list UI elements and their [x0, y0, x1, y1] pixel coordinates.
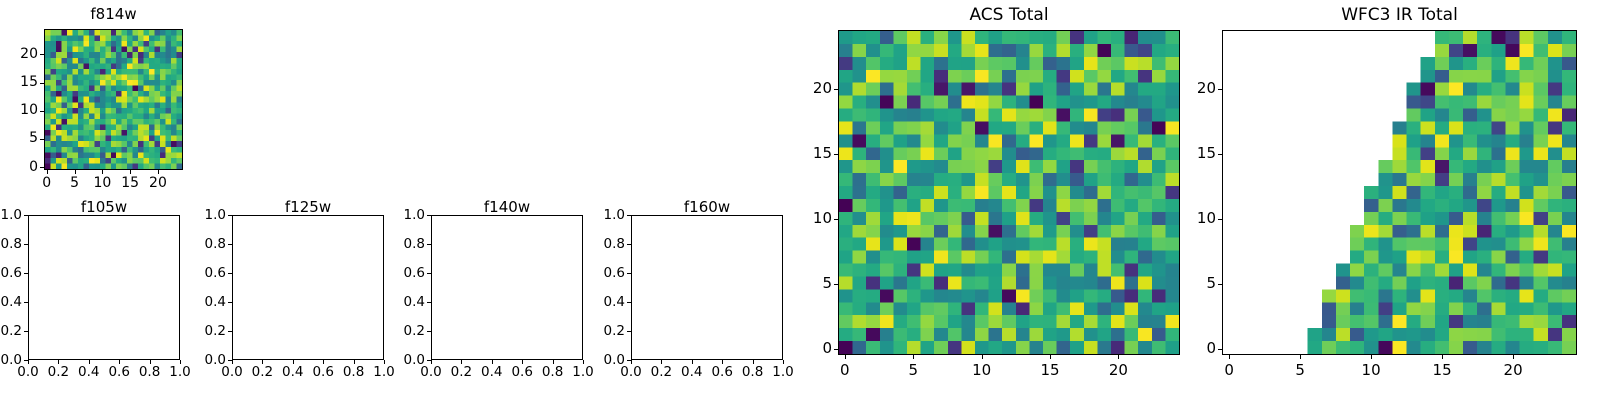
- xtick-label: 20: [1078, 361, 1158, 379]
- xtick-mark: [130, 170, 131, 174]
- ytick-mark: [40, 167, 44, 168]
- ytick-mark: [40, 111, 44, 112]
- xtick-mark: [982, 355, 983, 359]
- ytick-label: 0.2: [0, 323, 22, 339]
- ytick-label: 0: [742, 339, 832, 357]
- ytick-label: 0.4: [535, 294, 625, 310]
- ytick-mark: [40, 139, 44, 140]
- ytick-mark: [834, 219, 838, 220]
- xtick-label: 10: [1331, 361, 1411, 379]
- xtick-label: 20: [1473, 361, 1553, 379]
- ytick-label: 20: [742, 79, 832, 97]
- xtick-mark: [47, 170, 48, 174]
- ytick-label: 20: [1126, 79, 1216, 97]
- ytick-label: 0.6: [535, 265, 625, 281]
- xtick-mark: [1118, 355, 1119, 359]
- ytick-label: 0: [0, 159, 38, 175]
- xtick-mark: [1513, 355, 1514, 359]
- xtick-label: 5: [1260, 361, 1340, 379]
- ytick-mark: [427, 302, 431, 303]
- ytick-mark: [24, 360, 28, 361]
- ytick-label: 1.0: [335, 207, 425, 223]
- ytick-mark: [1218, 349, 1222, 350]
- xtick-mark: [1050, 355, 1051, 359]
- ytick-mark: [627, 331, 631, 332]
- ytick-label: 0.6: [335, 265, 425, 281]
- ytick-mark: [834, 89, 838, 90]
- ytick-mark: [40, 54, 44, 55]
- ytick-mark: [228, 215, 232, 216]
- ytick-label: 0.4: [136, 294, 226, 310]
- ytick-label: 15: [0, 74, 38, 90]
- ytick-label: 0.2: [535, 323, 625, 339]
- ytick-label: 0.0: [535, 352, 625, 368]
- ytick-mark: [627, 215, 631, 216]
- ytick-label: 0.8: [136, 236, 226, 252]
- ytick-label: 10: [1126, 209, 1216, 227]
- ytick-mark: [627, 360, 631, 361]
- ytick-label: 0.6: [0, 265, 22, 281]
- ytick-mark: [228, 302, 232, 303]
- ytick-mark: [24, 215, 28, 216]
- ytick-label: 1.0: [136, 207, 226, 223]
- panel-title-wfc3-ir-total: WFC3 IR Total: [1162, 5, 1600, 25]
- xtick-label: 0: [1189, 361, 1269, 379]
- ytick-mark: [834, 349, 838, 350]
- ytick-label: 0.4: [0, 294, 22, 310]
- ytick-label: 15: [742, 144, 832, 162]
- ytick-label: 5: [0, 130, 38, 146]
- ytick-mark: [1218, 219, 1222, 220]
- ytick-mark: [40, 83, 44, 84]
- ytick-mark: [627, 244, 631, 245]
- xtick-mark: [1371, 355, 1372, 359]
- ytick-mark: [627, 273, 631, 274]
- plot-area-wfc3-ir-total: [1222, 30, 1577, 355]
- ytick-label: 0.2: [335, 323, 425, 339]
- ytick-label: 0.4: [335, 294, 425, 310]
- ytick-label: 20: [0, 46, 38, 62]
- ytick-label: 0.8: [0, 236, 22, 252]
- ytick-label: 15: [1126, 144, 1216, 162]
- ytick-label: 0.2: [136, 323, 226, 339]
- xtick-mark: [158, 170, 159, 174]
- xtick-mark: [1300, 355, 1301, 359]
- ytick-label: 0.8: [535, 236, 625, 252]
- ytick-label: 0.0: [0, 352, 22, 368]
- ytick-label: 1.0: [0, 207, 22, 223]
- xtick-label: 20: [118, 175, 198, 191]
- heatmap-image-f814w: [45, 30, 182, 169]
- ytick-mark: [1218, 89, 1222, 90]
- figure-canvas: f814w0510152005101520f105w0.00.20.40.60.…: [0, 0, 1600, 400]
- ytick-mark: [1218, 284, 1222, 285]
- xtick-mark: [913, 355, 914, 359]
- ytick-label: 10: [742, 209, 832, 227]
- plot-area-f814w: [44, 29, 183, 170]
- panel-title-f814w: f814w: [0, 5, 243, 23]
- ytick-label: 0.0: [335, 352, 425, 368]
- ytick-mark: [834, 284, 838, 285]
- ytick-label: 0.0: [136, 352, 226, 368]
- ytick-mark: [228, 273, 232, 274]
- ytick-label: 0.6: [136, 265, 226, 281]
- ytick-mark: [627, 302, 631, 303]
- ytick-label: 10: [0, 102, 38, 118]
- ytick-label: 0: [1126, 339, 1216, 357]
- ytick-mark: [228, 244, 232, 245]
- ytick-label: 5: [742, 274, 832, 292]
- xtick-label: 15: [1402, 361, 1482, 379]
- ytick-label: 0.8: [335, 236, 425, 252]
- ytick-mark: [228, 360, 232, 361]
- xtick-mark: [1442, 355, 1443, 359]
- xtick-mark: [1229, 355, 1230, 359]
- ytick-mark: [427, 360, 431, 361]
- ytick-mark: [24, 302, 28, 303]
- ytick-mark: [24, 244, 28, 245]
- ytick-mark: [427, 244, 431, 245]
- xtick-mark: [102, 170, 103, 174]
- ytick-mark: [427, 215, 431, 216]
- ytick-mark: [24, 273, 28, 274]
- xtick-mark: [75, 170, 76, 174]
- ytick-mark: [427, 331, 431, 332]
- ytick-mark: [834, 154, 838, 155]
- ytick-mark: [1218, 154, 1222, 155]
- ytick-label: 5: [1126, 274, 1216, 292]
- ytick-mark: [427, 273, 431, 274]
- ytick-label: 1.0: [535, 207, 625, 223]
- ytick-mark: [24, 331, 28, 332]
- ytick-mark: [228, 331, 232, 332]
- xtick-mark: [845, 355, 846, 359]
- heatmap-image-wfc3-ir-total: [1223, 31, 1576, 354]
